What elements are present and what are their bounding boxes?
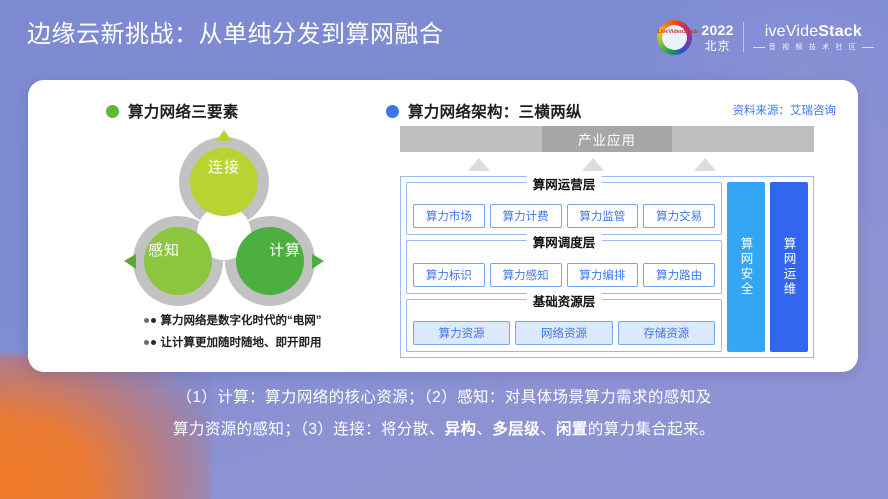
vertical-bar-operations-label: 算网运维 [780,237,799,297]
chip-scheduling-2[interactable]: 算力编排 [567,263,639,287]
left-panel-title: 算力网络三要素 [128,100,239,122]
layer-resources: 基础资源层 算力资源 网络资源 存储资源 [406,299,722,352]
footer-sep-1: 、 [476,421,492,438]
chip-resources-2[interactable]: 存储资源 [618,321,715,345]
brand-name-light: iveVide [765,23,819,40]
chip-resources-1[interactable]: 网络资源 [515,321,612,345]
layers-column: 算网运营层 算力市场 算力计费 算力监管 算力交易 算网调度层 算力标识 算力感… [406,182,722,352]
slide-root: 边缘云新挑战：从单纯分发到算网融合 LiveVideoStack 2022 北京… [0,0,888,499]
footer-line-1: （1）计算：算力网络的核心资源；（2）感知：对具体场景算力需求的感知及 [0,382,888,414]
footer-line2-c: 的算力集合起来。 [588,421,715,438]
chip-scheduling-3[interactable]: 算力路由 [643,263,715,287]
brand-name-bold: Stack [818,23,862,40]
up-arrow-icon [468,158,490,171]
chip-operations-1[interactable]: 算力计费 [490,204,562,228]
vertical-bar-security[interactable]: 算网安全 [727,182,765,352]
bullet-text: 让计算更加随时随地、即开即用 [161,334,322,350]
left-panel-heading: 算力网络三要素 [106,100,239,122]
layer-title: 算网运营层 [527,174,602,193]
content-card: 算力网络三要素 连接 感知 [28,80,858,372]
chip-operations-0[interactable]: 算力市场 [413,204,485,228]
up-arrow-icon [694,158,716,171]
brand-wordmark: iveVideStack 音 视 频 技 术 社 区 [753,24,874,51]
up-arrow-icon [582,158,604,171]
layer-scheduling: 算网调度层 算力标识 算力感知 算力编排 算力路由 [406,240,722,293]
brand-mark-text: LiveVideoStack [657,29,692,35]
source-note: 资料来源：艾瑞咨询 [733,102,837,118]
brand-lockup: LiveVideoStack 2022 北京 iveVideStack 音 视 … [657,17,874,57]
chip-resources-0[interactable]: 算力资源 [413,321,510,345]
industry-application-bar: 产业应用 [400,126,814,152]
brand-tagline: 音 视 频 技 术 社 区 [753,44,874,51]
node-label-compute: 计算 [252,239,318,260]
footer-emphasis-1: 异构 [445,421,477,438]
node-label-connect: 连接 [124,156,324,177]
architecture-body: 算网运营层 算力市场 算力计费 算力监管 算力交易 算网调度层 算力标识 算力感… [400,176,814,358]
footer-line2-a: 算力资源的感知；（3）连接：将分散、 [173,421,445,438]
architecture-diagram: 产业应用 算网运营层 算力市场 算力计费 算力监管 算力交易 算网调度层 [374,126,840,358]
three-elements-diagram: 连接 感知 计算 [124,130,324,320]
footer-emphasis-3: 闲置 [556,421,588,438]
chip-scheduling-1[interactable]: 算力感知 [490,263,562,287]
slide-header: 边缘云新挑战：从单纯分发到算网融合 LiveVideoStack 2022 北京… [0,0,888,72]
brand-divider [743,22,744,52]
right-panel-title: 算力网络架构：三横两纵 [408,100,582,122]
vertical-bar-operations[interactable]: 算网运维 [770,182,808,352]
chip-scheduling-0[interactable]: 算力标识 [413,263,485,287]
page-title: 边缘云新挑战：从单纯分发到算网融合 [27,20,444,50]
list-item: 算力网络是数字化时代的“电网” [144,312,404,328]
chip-operations-2[interactable]: 算力监管 [567,204,639,228]
event-year-city: 2022 北京 [701,23,733,52]
layer-title: 算网调度层 [527,232,602,251]
chip-operations-3[interactable]: 算力交易 [643,204,715,228]
node-perceive-circle [144,227,212,295]
footer-emphasis-2: 多层级 [492,421,540,438]
footer-sep-2: 、 [540,421,556,438]
industry-application-label: 产业应用 [542,126,672,152]
livevideostack-logo-icon: LiveVideoStack [657,20,692,55]
double-dot-bullet-icon [144,318,156,323]
node-label-perceive: 感知 [131,239,197,260]
event-city: 北京 [705,40,731,52]
footer-description: （1）计算：算力网络的核心资源；（2）感知：对具体场景算力需求的感知及 算力资源… [0,382,888,446]
left-panel-bullets: 算力网络是数字化时代的“电网” 让计算更加随时随地、即开即用 [144,312,404,356]
vertical-bar-security-label: 算网安全 [737,237,756,297]
event-year: 2022 [701,23,733,37]
green-bullet-icon [106,105,119,118]
list-item: 让计算更加随时随地、即开即用 [144,334,404,350]
bullet-text: 算力网络是数字化时代的“电网” [161,312,322,328]
double-dot-bullet-icon [144,340,156,345]
brand-tagline-text: 音 视 频 技 术 社 区 [769,44,858,51]
right-panel-heading: 算力网络架构：三横两纵 [386,100,582,122]
footer-line-2: 算力资源的感知；（3）连接：将分散、异构、多层级、闲置的算力集合起来。 [0,414,888,446]
brand-name: iveVideStack [765,24,862,40]
layer-operations: 算网运营层 算力市场 算力计费 算力监管 算力交易 [406,182,722,235]
node-compute-circle [236,227,304,295]
blue-bullet-icon [386,105,399,118]
arrow-up-icon [216,130,232,141]
layer-title: 基础资源层 [527,291,602,310]
